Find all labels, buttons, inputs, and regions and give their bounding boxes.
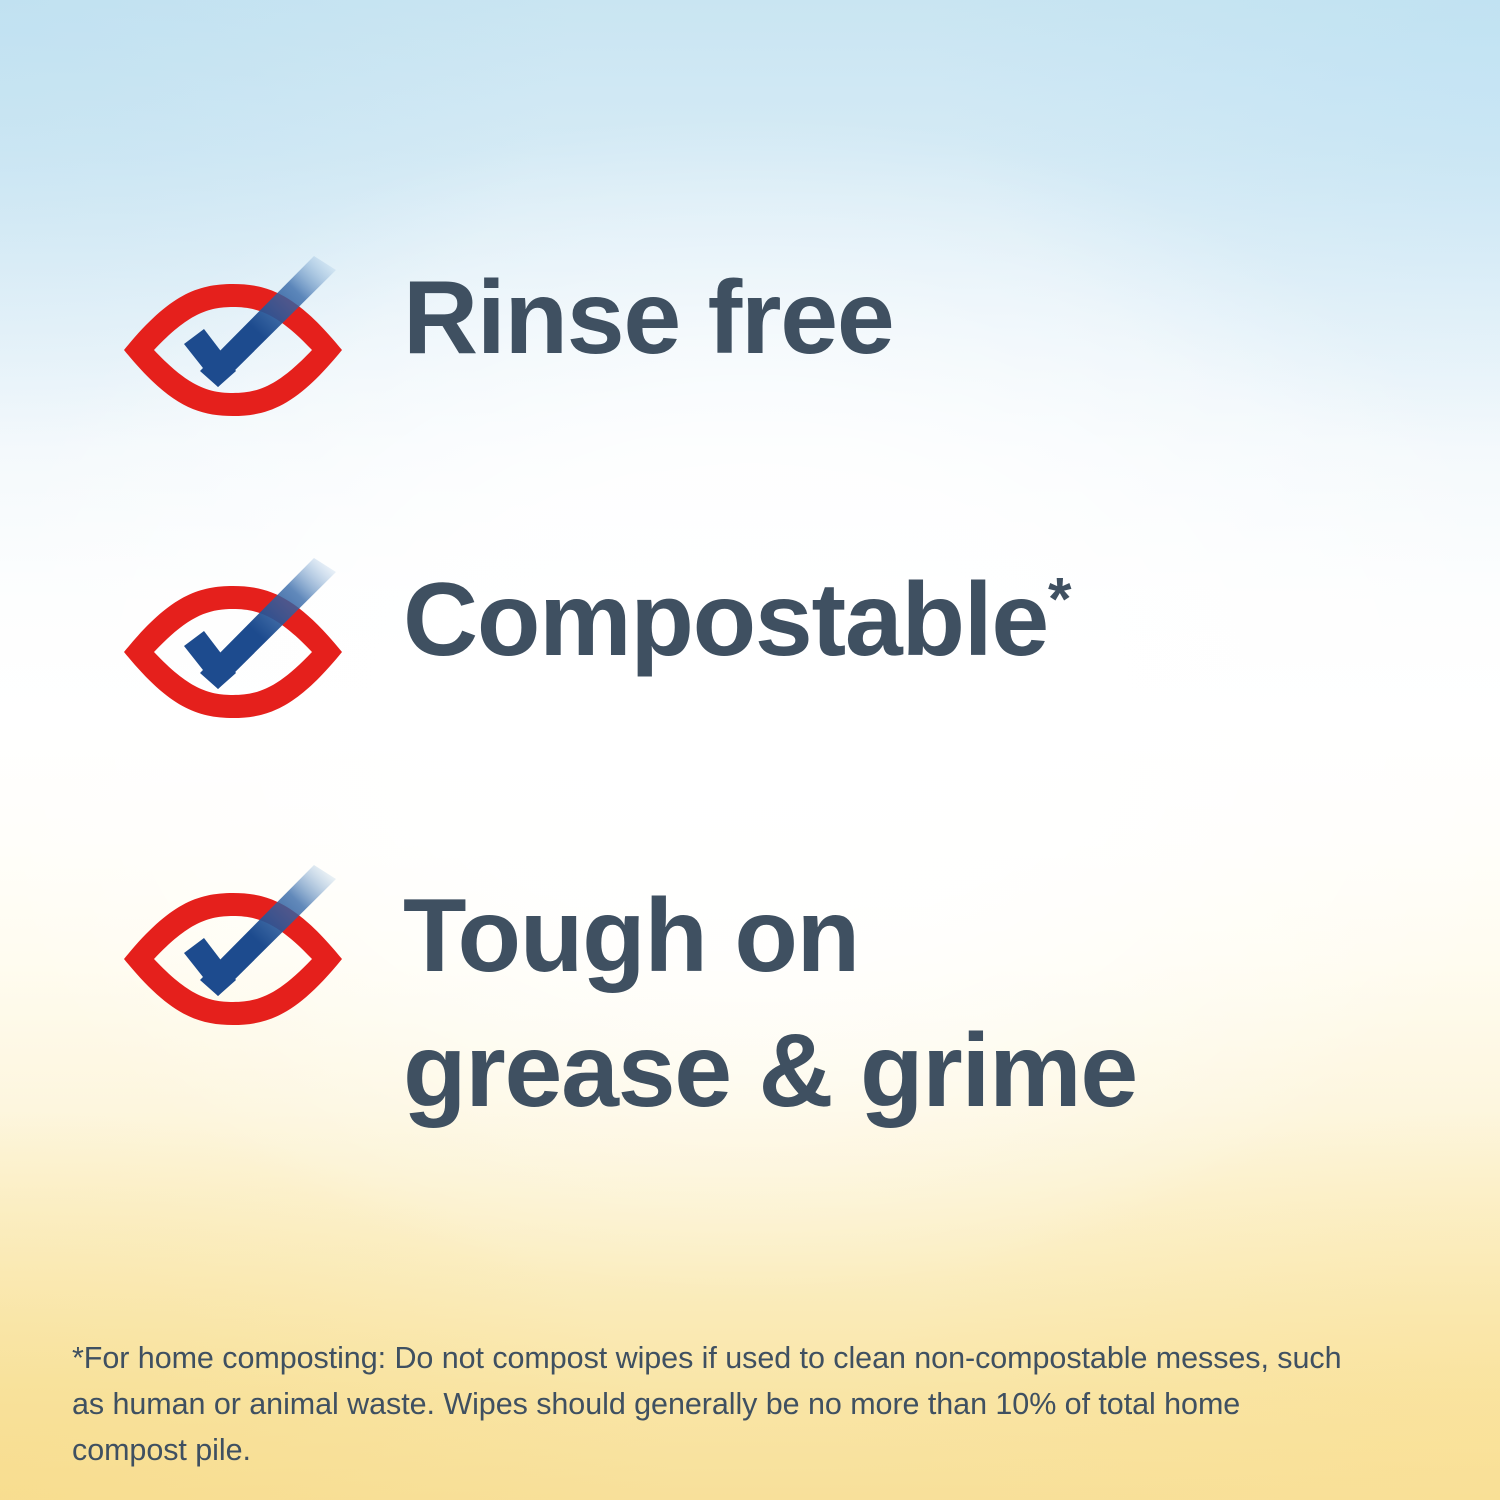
feature-label-rinse-free: Rinse free [403, 266, 893, 370]
feature-label-tough-on-grease-and-grime: Tough on grease & grime [403, 869, 1137, 1139]
feature-list-page: Rinse free Compostable* [0, 0, 1500, 1500]
feature-label-compostable: Compostable* [403, 568, 1072, 672]
feature-row-rinse-free: Rinse free [118, 250, 893, 424]
feature-row-tough-on-grease-and-grime: Tough on grease & grime [118, 855, 1137, 1139]
feature-label-compostable-text: Compostable [403, 562, 1048, 678]
red-lens-blue-checkmark-icon [118, 576, 348, 726]
asterisk-superscript: * [1048, 564, 1071, 632]
compostable-footnote: *For home composting: Do not compost wip… [72, 1336, 1362, 1473]
red-lens-blue-checkmark-icon [118, 274, 348, 424]
feature-row-compostable: Compostable* [118, 552, 1072, 726]
red-lens-blue-checkmark-icon [118, 883, 348, 1033]
